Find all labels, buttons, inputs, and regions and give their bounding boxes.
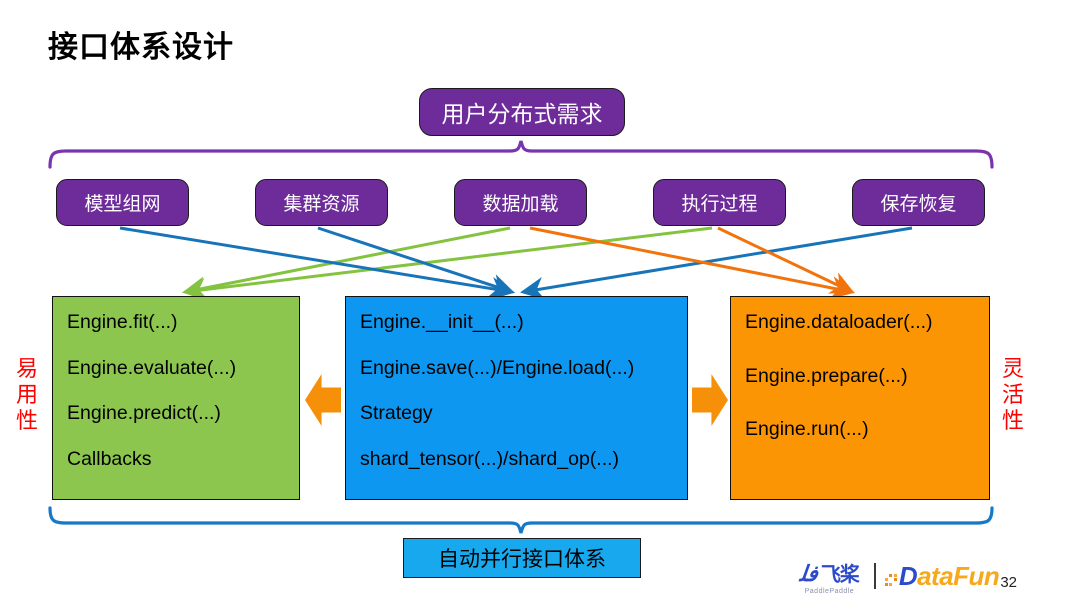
arrow-left-icon bbox=[305, 374, 341, 426]
side-label-flexibility: 灵 活 性 bbox=[1000, 356, 1026, 434]
api-line: Engine.dataloader(...) bbox=[745, 313, 989, 333]
feature-pill-save-restore[interactable]: 保存恢复 bbox=[852, 179, 985, 226]
side-label-char: 性 bbox=[1000, 408, 1026, 434]
connector-orange-group bbox=[530, 228, 852, 292]
api-line: Strategy bbox=[360, 404, 687, 424]
api-line: Engine.evaluate(...) bbox=[67, 359, 299, 379]
api-group-ease-of-use[interactable]: Engine.fit(...) Engine.evaluate(...) Eng… bbox=[52, 296, 300, 500]
datafun-rest: ataFun bbox=[917, 561, 999, 591]
connector-blue-group bbox=[120, 228, 912, 292]
api-line: Engine.predict(...) bbox=[67, 404, 299, 424]
paddle-logo-row: ﻓﻠ 飞桨 bbox=[800, 558, 859, 587]
demand-box[interactable]: 用户分布式需求 bbox=[419, 88, 625, 136]
api-line: Engine.fit(...) bbox=[67, 313, 299, 333]
side-label-char: 活 bbox=[1000, 382, 1026, 408]
api-line: Engine.__init__(...) bbox=[360, 313, 687, 333]
page-title: 接口体系设计 bbox=[48, 22, 234, 66]
api-line: Engine.run(...) bbox=[745, 420, 989, 440]
api-group-core[interactable]: Engine.__init__(...) Engine.save(...)/En… bbox=[345, 296, 688, 500]
feature-pill-model-network[interactable]: 模型组网 bbox=[56, 179, 189, 226]
api-line: shard_tensor(...)/shard_op(...) bbox=[360, 450, 687, 470]
summary-box[interactable]: 自动并行接口体系 bbox=[403, 538, 641, 578]
api-line: Engine.prepare(...) bbox=[745, 367, 989, 387]
footer-logos: ﻓﻠ 飞桨 PaddlePaddle DataFun 32 bbox=[800, 552, 1080, 600]
api-line: Callbacks bbox=[67, 450, 299, 470]
top-brace bbox=[50, 141, 992, 167]
side-label-char: 性 bbox=[14, 408, 40, 434]
bottom-brace bbox=[50, 508, 992, 533]
paddle-logo-en: PaddlePaddle bbox=[805, 588, 855, 595]
feature-pill-cluster-resource[interactable]: 集群资源 bbox=[255, 179, 388, 226]
paddle-logo-cn: 飞桨 bbox=[821, 558, 859, 587]
side-label-char: 灵 bbox=[1000, 356, 1026, 382]
arrow-right-icon bbox=[692, 374, 728, 426]
feature-pill-data-loading[interactable]: 数据加载 bbox=[454, 179, 587, 226]
datafun-d: D bbox=[899, 561, 917, 591]
side-label-char: 易 bbox=[14, 356, 40, 382]
api-line: Engine.save(...)/Engine.load(...) bbox=[360, 359, 687, 379]
paddlepaddle-logo: ﻓﻠ 飞桨 PaddlePaddle bbox=[800, 558, 859, 595]
side-label-ease-of-use: 易 用 性 bbox=[14, 356, 40, 434]
datafun-logo: DataFun 32 bbox=[885, 561, 1017, 592]
side-label-char: 用 bbox=[14, 382, 40, 408]
connector-green-group bbox=[185, 228, 712, 292]
datafun-dots-icon bbox=[885, 574, 897, 586]
page-number: 32 bbox=[1000, 574, 1017, 591]
datafun-wordmark: DataFun bbox=[899, 561, 1000, 592]
feature-pill-execution-process[interactable]: 执行过程 bbox=[653, 179, 786, 226]
api-group-flexibility[interactable]: Engine.dataloader(...) Engine.prepare(..… bbox=[730, 296, 990, 500]
logo-divider bbox=[874, 563, 876, 589]
paddle-mark-icon: ﻓﻠ bbox=[799, 561, 820, 587]
